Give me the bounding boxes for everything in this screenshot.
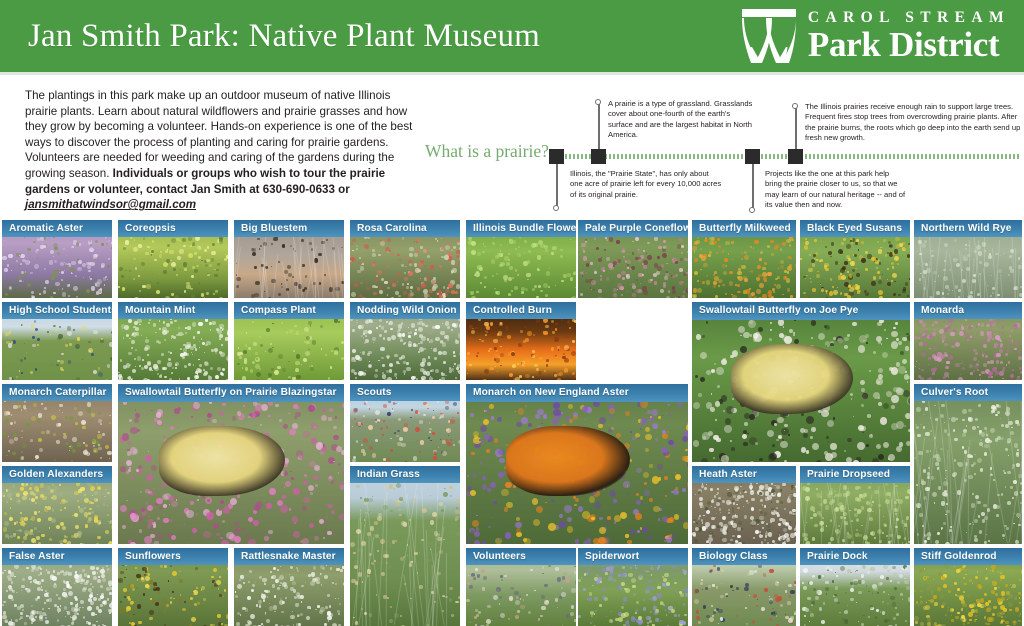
photo-cell[interactable]: Indian Grass [350, 466, 460, 626]
brand-lockup: CAROL STREAM Park District [738, 7, 1024, 65]
photo-caption: Culver's Root [914, 384, 1022, 401]
photo-cell[interactable]: Illinois Bundle Flower [466, 220, 576, 298]
photo-image [692, 302, 910, 462]
photo-cell[interactable]: Biology Class [692, 548, 796, 626]
brand-line-carol-stream: CAROL STREAM [808, 10, 1010, 26]
photo-cell[interactable]: High School Students [2, 302, 112, 380]
timeline-endpoint-1 [553, 205, 559, 211]
photo-cell[interactable]: Prairie Dropseed [800, 466, 910, 544]
timeline-marker-4[interactable] [788, 149, 803, 164]
header-divider [0, 72, 1024, 75]
photo-cell[interactable]: False Aster [2, 548, 112, 626]
photo-caption: Rattlesnake Master [234, 548, 344, 565]
photo-grid: Aromatic AsterCoreopsisBig BluestemRosa … [0, 218, 1024, 626]
photo-caption: Swallowtail Butterfly on Joe Pye [692, 302, 910, 320]
photo-caption: Black Eyed Susans [800, 220, 910, 237]
photo-cell[interactable]: Controlled Burn [466, 302, 576, 380]
photo-caption: Stiff Goldenrod [914, 548, 1022, 565]
photo-cell[interactable]: Big Bluestem [234, 220, 344, 298]
photo-cell[interactable]: Nodding Wild Onion [350, 302, 460, 380]
photo-cell[interactable]: Northern Wild Rye [914, 220, 1022, 298]
what-is-a-prairie-infographic: What is a prairie? Illinois, the "Prairi… [425, 86, 1024, 216]
photo-caption: Pale Purple Coneflower [578, 220, 688, 237]
photo-cell[interactable]: Sunflowers [118, 548, 228, 626]
photo-caption: Compass Plant [234, 302, 344, 319]
photo-cell[interactable]: Monarch Caterpillar [2, 384, 112, 462]
photo-cell[interactable]: Butterfly Milkweed [692, 220, 796, 298]
timeline-stem-2 [598, 104, 600, 150]
timeline-endpoint-4 [792, 103, 798, 109]
photo-caption: Mountain Mint [118, 302, 228, 319]
photo-cell[interactable]: Swallowtail Butterfly on Prairie Blazing… [118, 384, 344, 544]
timeline-stem-4 [795, 108, 797, 150]
photo-cell[interactable]: Spiderwort [578, 548, 688, 626]
photo-cell[interactable]: Pale Purple Coneflower [578, 220, 688, 298]
butterfly-subject [159, 426, 286, 496]
photo-caption: Nodding Wild Onion [350, 302, 460, 319]
photo-caption: Sunflowers [118, 548, 228, 565]
photo-caption: Volunteers [466, 548, 576, 565]
timeline-marker-3[interactable] [745, 149, 760, 164]
butterfly-subject [506, 426, 630, 496]
photo-caption: Monarch on New England Aster [466, 384, 688, 402]
photo-caption: Rosa Carolina [350, 220, 460, 237]
photo-caption: Controlled Burn [466, 302, 576, 319]
photo-cell[interactable]: Rosa Carolina [350, 220, 460, 298]
photo-caption: High School Students [2, 302, 112, 319]
photo-cell[interactable]: Golden Alexanders [2, 466, 112, 544]
timeline-endpoint-3 [749, 207, 755, 213]
timeline-note-3: Projects like the one at this park help … [765, 169, 907, 210]
prairie-question-heading: What is a prairie? [425, 141, 549, 162]
photo-cell[interactable]: Aromatic Aster [2, 220, 112, 298]
timeline-stem-3 [752, 164, 754, 209]
photo-caption: Monarch Caterpillar [2, 384, 112, 401]
photo-cell[interactable]: Heath Aster [692, 466, 796, 544]
photo-caption: Scouts [350, 384, 460, 401]
photo-cell[interactable]: Monarda [914, 302, 1022, 380]
timeline-stem-1 [556, 164, 558, 207]
brand-text: CAROL STREAM Park District [808, 10, 1010, 62]
photo-caption: Prairie Dropseed [800, 466, 910, 483]
photo-caption: Coreopsis [118, 220, 228, 237]
butterfly-subject [731, 344, 853, 414]
photo-cell[interactable]: Compass Plant [234, 302, 344, 380]
photo-caption: Spiderwort [578, 548, 688, 565]
photo-caption: Biology Class [692, 548, 796, 565]
timeline-marker-2[interactable] [591, 149, 606, 164]
photo-caption: Prairie Dock [800, 548, 910, 565]
photo-caption: Golden Alexanders [2, 466, 112, 483]
photo-image [466, 384, 688, 544]
photo-image [914, 384, 1022, 544]
photo-cell[interactable]: Culver's Root [914, 384, 1022, 544]
poster-canvas: Jan Smith Park: Native Plant Museum CARO… [0, 0, 1024, 626]
photo-cell[interactable]: Mountain Mint [118, 302, 228, 380]
photo-caption: Monarda [914, 302, 1022, 319]
park-district-logo-icon [738, 7, 800, 65]
timeline-note-1: Illinois, the "Prairie State", has only … [570, 169, 722, 200]
photo-cell[interactable]: Volunteers [466, 548, 576, 626]
photo-cell[interactable]: Swallowtail Butterfly on Joe Pye [692, 302, 910, 462]
photo-cell[interactable]: Scouts [350, 384, 460, 462]
photo-caption: Butterfly Milkweed [692, 220, 796, 237]
photo-caption: Indian Grass [350, 466, 460, 483]
photo-caption: Swallowtail Butterfly on Prairie Blazing… [118, 384, 344, 402]
brand-line-park-district: Park District [808, 27, 1010, 62]
photo-cell[interactable]: Coreopsis [118, 220, 228, 298]
timeline-marker-1[interactable] [549, 149, 564, 164]
timeline-note-2: A prairie is a type of grassland. Grassl… [608, 99, 756, 140]
prairie-timeline-axis [549, 154, 1021, 159]
photo-caption: False Aster [2, 548, 112, 565]
photo-caption: Heath Aster [692, 466, 796, 483]
poster-header: Jan Smith Park: Native Plant Museum CARO… [0, 0, 1024, 72]
photo-caption: Illinois Bundle Flower [466, 220, 576, 237]
page-title: Jan Smith Park: Native Plant Museum [0, 18, 540, 55]
photo-cell[interactable]: Monarch on New England Aster [466, 384, 688, 544]
intro-text-block: The plantings in this park make up an ou… [25, 88, 421, 213]
photo-cell[interactable]: Prairie Dock [800, 548, 910, 626]
photo-caption: Northern Wild Rye [914, 220, 1022, 237]
contact-email-link[interactable]: jansmithatwindsor@gmail.com [25, 198, 196, 211]
timeline-endpoint-2 [595, 99, 601, 105]
photo-cell[interactable]: Stiff Goldenrod [914, 548, 1022, 626]
photo-caption: Big Bluestem [234, 220, 344, 237]
photo-image [350, 466, 460, 626]
photo-cell[interactable]: Black Eyed Susans [800, 220, 910, 298]
photo-image [118, 384, 344, 544]
timeline-note-4: The Illinois prairies receive enough rai… [805, 102, 1024, 143]
photo-cell[interactable]: Rattlesnake Master [234, 548, 344, 626]
photo-caption: Aromatic Aster [2, 220, 112, 237]
